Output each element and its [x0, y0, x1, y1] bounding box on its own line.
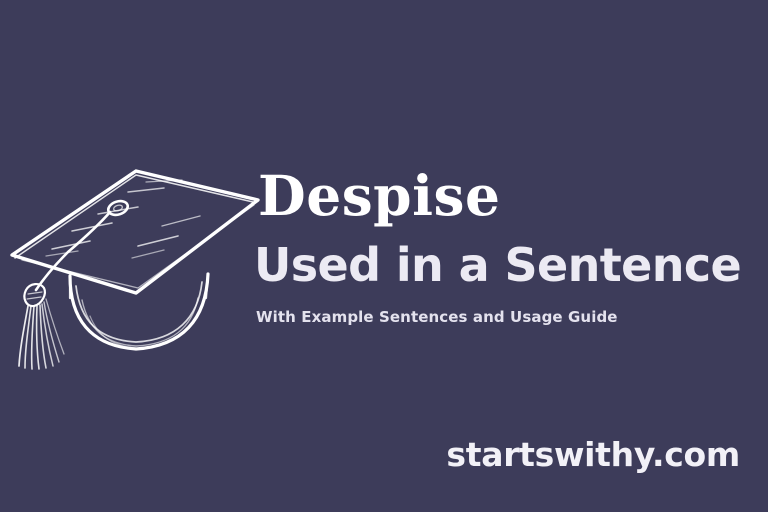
- word-title: Despise: [258, 168, 500, 223]
- page-title: Used in a Sentence: [254, 240, 741, 292]
- brand-domain: startswithy.com: [446, 437, 740, 473]
- graduation-cap-icon: [0, 148, 266, 368]
- word-card-banner: Despise Used in a Sentence With Example …: [0, 0, 768, 512]
- subtitle: With Example Sentences and Usage Guide: [256, 308, 618, 326]
